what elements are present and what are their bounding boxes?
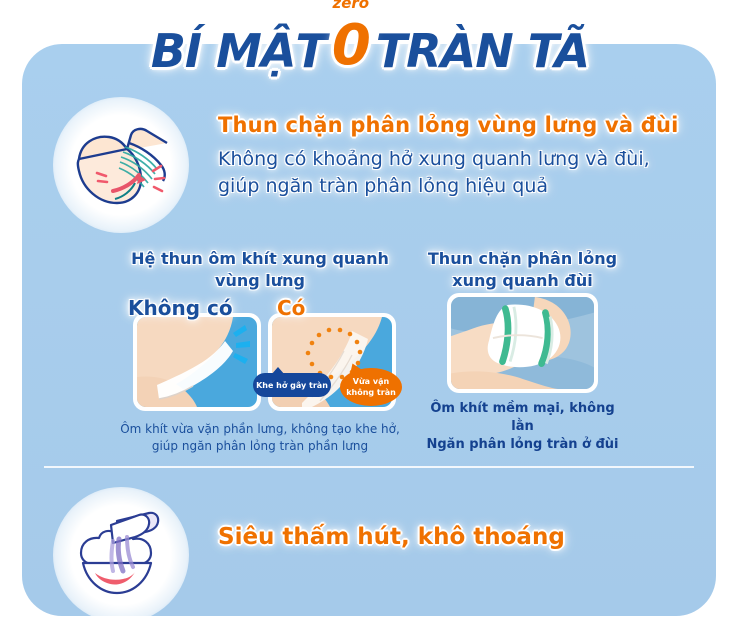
callout-snug-line1: Vừa vặn (346, 376, 396, 387)
section1-body-line1: Không có khoảng hở xung quanh lưng và đù… (218, 146, 650, 173)
title-part-2: TRÀN TÃ (376, 28, 589, 74)
section-divider (44, 466, 694, 468)
comparison-right-heading: Thun chặn phân lỏng xung quanh đùi (420, 248, 625, 292)
comparison-right-heading-line2: xung quanh đùi (420, 270, 625, 292)
comparison-right-heading-line1: Thun chặn phân lỏng (420, 248, 625, 270)
photo-card-without-elastic (133, 313, 261, 411)
diaper-back-elastic-icon (53, 97, 189, 233)
comparison-right-caption-line2: Ngăn phân lỏng tràn ở đùi (420, 436, 625, 454)
comparison-left-caption-line1: Ôm khít vừa vặn phần lưng, không tạo khe… (105, 421, 415, 438)
comparison-left-caption: Ôm khít vừa vặn phần lưng, không tạo khe… (105, 421, 415, 455)
baby-gap-photo-illustration (137, 317, 257, 407)
photo-without-elastic (137, 317, 257, 407)
comparison-left-caption-line2: giúp ngăn phân lỏng tràn phần lưng (105, 438, 415, 455)
callout-snug-no-leak: Vừa vặn không tràn (340, 368, 402, 406)
zero-badge: zero 0 (332, 18, 370, 74)
section1-heading: Thun chặn phân lỏng vùng lưng và đùi (218, 113, 679, 137)
section1-body: Không có khoảng hở xung quanh lưng và đù… (218, 146, 650, 200)
zero-label: zero (333, 0, 370, 11)
photo-card-baby-thigh (447, 293, 598, 393)
diaper-absorbency-illustration (65, 503, 177, 607)
section2-heading: Siêu thấm hút, khô thoáng (218, 524, 565, 550)
callout-snug-line2: không tràn (346, 387, 396, 398)
comparison-left-heading: Hệ thun ôm khít xung quanh vùng lưng (120, 248, 400, 292)
comparison-left-heading-line2: vùng lưng (120, 270, 400, 292)
baby-thigh-cuff-illustration (451, 297, 594, 389)
infographic-root: BÍ MẬT zero 0 TRÀN TÃ (0, 0, 740, 636)
zero-digit: 0 (332, 18, 370, 74)
callout-gap-causes-leak: Khe hở gây tràn (253, 373, 331, 397)
diaper-back-elastic-illustration (65, 113, 177, 217)
comparison-right-caption: Ôm khít mềm mại, không lằn Ngăn phân lỏn… (420, 400, 625, 454)
diaper-absorbency-icon (53, 487, 189, 623)
comparison-right-caption-line1: Ôm khít mềm mại, không lằn (420, 400, 625, 436)
baby-wearing-diaper-photo (451, 297, 594, 389)
comparison-left-heading-line1: Hệ thun ôm khít xung quanh (120, 248, 400, 270)
title-banner: BÍ MẬT zero 0 TRÀN TÃ (0, 6, 740, 86)
section1-body-line2: giúp ngăn tràn phân lỏng hiệu quả (218, 173, 650, 200)
title-part-1: BÍ MẬT (151, 28, 326, 74)
label-without-elastic: Không có (128, 296, 233, 320)
label-with-elastic: Có (277, 296, 305, 320)
